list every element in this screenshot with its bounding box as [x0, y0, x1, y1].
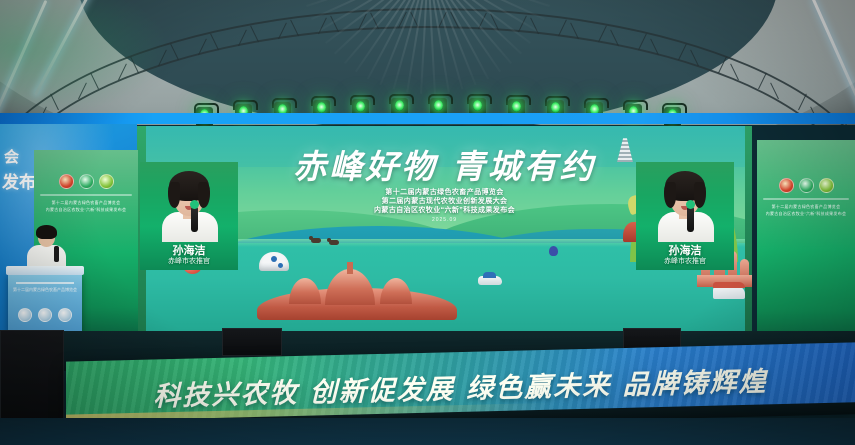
speaker-role-right: 赤峰市农推官	[636, 256, 734, 266]
vehicle-cab	[483, 272, 496, 278]
microphone-head	[190, 200, 199, 209]
speaker-panel-right: 孙海洁 赤峰市农推官	[636, 162, 734, 270]
led-wall-top-strip	[0, 113, 855, 124]
yurt-graphic	[259, 252, 289, 271]
podium-logo-3	[58, 308, 72, 322]
podium-logo-2	[38, 308, 52, 322]
flower-icon	[549, 246, 558, 256]
vehicle-graphic	[478, 276, 502, 285]
truss-web	[598, 26, 607, 43]
microphone-body	[687, 206, 694, 232]
podium-logo-1	[18, 308, 32, 322]
light-led	[356, 101, 365, 112]
presenter-microphone	[54, 246, 59, 262]
speaker-photo-right	[654, 166, 716, 242]
panel-subtitle-right-2: 内蒙古自治区农牧业“六新”科技成果发布会	[757, 211, 855, 217]
left-wall-sign-line1: 会	[4, 146, 19, 167]
white-structure-roof	[713, 282, 745, 288]
truss-web	[718, 56, 727, 73]
cattle-icon-2	[329, 240, 339, 245]
stage-light-row	[0, 86, 855, 116]
speaker-hair-right	[694, 182, 706, 208]
panel-sheen	[757, 140, 855, 250]
truss-web	[238, 29, 247, 46]
speaker-hair-right	[198, 182, 210, 208]
red-emblem-logo	[59, 174, 74, 189]
dome-spire	[347, 262, 353, 274]
stage-monitor-1	[222, 328, 282, 356]
truss-web	[650, 38, 659, 55]
panel-subtitle-right-1: 第十二届内蒙古绿色农畜产品博览会	[757, 204, 855, 210]
presenter-hair	[36, 225, 57, 239]
green-sprout-logo	[819, 178, 834, 193]
left-speaker-stack	[0, 330, 64, 424]
light-led	[434, 100, 443, 111]
truss-web	[290, 20, 299, 37]
truss-web	[170, 44, 179, 61]
panel-rule-right	[763, 198, 849, 200]
speaker-hair-left	[664, 182, 676, 208]
truss-web	[198, 38, 207, 55]
green-sprout-logo	[99, 174, 114, 189]
truss-web	[610, 29, 619, 46]
green-leaf-logo	[799, 178, 814, 193]
podium-top	[6, 266, 84, 275]
podium: 第十二届内蒙古绿色农畜产品博览会	[8, 272, 82, 334]
speaker-panel-left: 孙海洁 赤峰市农推官	[140, 162, 238, 270]
panel-logo-row-right	[757, 178, 855, 193]
stage-scene: 会 发布会	[0, 0, 855, 445]
panel-rule-left	[40, 194, 132, 196]
yurt-motif-2	[278, 263, 283, 268]
truss-web	[558, 20, 567, 37]
truss-web	[638, 34, 647, 51]
green-leaf-logo	[79, 174, 94, 189]
podium-subtitle: 第十二届内蒙古绿色农畜产品博览会	[8, 287, 82, 293]
yurt-motif-1	[271, 256, 277, 262]
podium-rule	[16, 282, 74, 284]
truss-web	[730, 64, 739, 81]
cattle-icon-1	[311, 238, 321, 243]
speaker-hair-left	[168, 182, 180, 208]
truss-web	[210, 34, 219, 51]
truss-web	[690, 50, 699, 67]
truss-web	[570, 22, 579, 39]
panel-subtitle-left-2: 内蒙古自治区农牧业“六新”科技成果发布会	[34, 207, 138, 213]
microphone-body	[191, 206, 198, 232]
truss-web	[278, 22, 287, 39]
panel-subtitle-left-1: 第十二届内蒙古绿色农畜产品博览会	[34, 200, 138, 206]
hall-floor	[0, 418, 855, 445]
truss-web	[250, 26, 259, 43]
light-led	[512, 101, 521, 112]
microphone-head	[686, 200, 695, 209]
truss-web	[678, 44, 687, 61]
panel-logo-row-left	[34, 174, 138, 189]
red-emblem-logo	[779, 178, 794, 193]
podium-logo-row	[8, 308, 82, 322]
speaker-role-left: 赤峰市农推官	[140, 256, 238, 266]
speaker-photo-left	[158, 166, 220, 242]
side-green-panel-right: 第十二届内蒙古绿色农畜产品博览会 内蒙古自治区农牧业“六新”科技成果发布会	[757, 140, 855, 340]
